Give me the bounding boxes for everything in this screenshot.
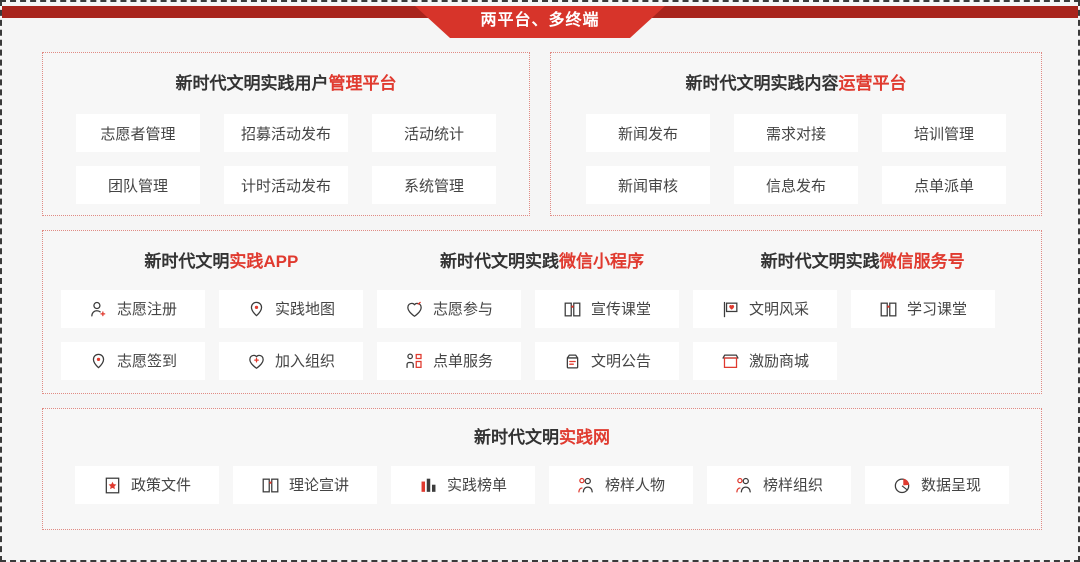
panel-web-portal-title: 新时代文明实践网 bbox=[43, 429, 1041, 446]
title-plain-text: 新时代文明实践用户 bbox=[176, 74, 329, 93]
people-group-icon bbox=[405, 352, 424, 371]
mobile-heading-row: 新时代文明实践APP 新时代文明实践微信小程序 新时代文明实践微信服务号 bbox=[43, 253, 1041, 270]
web-tile-grid: 政策文件 理论宣讲 bbox=[43, 466, 1041, 504]
shop-icon bbox=[721, 352, 740, 371]
tile-label: 榜样人物 bbox=[605, 478, 665, 493]
panel-ops-platform: 新时代文明实践内容运营平台 新闻发布 需求对接 培训管理 新闻审核 信息发布 点… bbox=[550, 52, 1042, 216]
tile-label: 实践地图 bbox=[275, 302, 335, 317]
tile-promotion-classroom[interactable]: 宣传课堂 bbox=[535, 290, 679, 328]
tile-timed-activity-publish[interactable]: 计时活动发布 bbox=[224, 166, 348, 204]
tile-info-publish[interactable]: 信息发布 bbox=[734, 166, 858, 204]
pie-chart-icon bbox=[893, 476, 912, 495]
tile-volunteer-checkin[interactable]: 志愿签到 bbox=[61, 342, 205, 380]
title-plain-text: 新时代文明实践 bbox=[440, 252, 559, 271]
title-highlight-text: 微信服务号 bbox=[880, 252, 965, 271]
tile-label: 榜样组织 bbox=[763, 478, 823, 493]
tile-order-dispatch[interactable]: 点单派单 bbox=[882, 166, 1006, 204]
title-plain-text: 新时代文明 bbox=[144, 252, 229, 271]
tile-policy-documents[interactable]: 政策文件 bbox=[75, 466, 219, 504]
title-highlight-text: 实践APP bbox=[229, 252, 298, 271]
open-book-icon bbox=[261, 476, 280, 495]
tile-volunteer-register[interactable]: 志愿注册 bbox=[61, 290, 205, 328]
tile-label: 实践榜单 bbox=[447, 478, 507, 493]
tile-label: 加入组织 bbox=[275, 354, 335, 369]
tile-study-classroom[interactable]: 学习课堂 bbox=[851, 290, 995, 328]
title-highlight-text: 微信小程序 bbox=[559, 252, 644, 271]
heading-miniprogram: 新时代文明实践微信小程序 bbox=[382, 253, 703, 270]
bar-chart-icon bbox=[419, 476, 438, 495]
title-plain-text: 新时代文明 bbox=[474, 428, 559, 447]
panel-ops-platform-title: 新时代文明实践内容运营平台 bbox=[551, 75, 1041, 92]
tile-training-management[interactable]: 培训管理 bbox=[882, 114, 1006, 152]
tile-label: 文明公告 bbox=[591, 354, 651, 369]
tile-civilization-notice[interactable]: 文明公告 bbox=[535, 342, 679, 380]
tile-label: 政策文件 bbox=[131, 478, 191, 493]
tile-label: 点单服务 bbox=[433, 354, 493, 369]
flag-heart-icon bbox=[721, 300, 740, 319]
user-add-icon bbox=[89, 300, 108, 319]
title-highlight-text: 实践网 bbox=[559, 428, 610, 447]
tile-label: 志愿参与 bbox=[433, 302, 493, 317]
grid-spacer bbox=[851, 342, 995, 380]
tile-practice-map[interactable]: 实践地图 bbox=[219, 290, 363, 328]
title-highlight-text: 运营平台 bbox=[839, 74, 907, 93]
mobile-column-5: 文明风采 激励商城 bbox=[693, 290, 837, 380]
panel-mobile-terminals: 新时代文明实践APP 新时代文明实践微信小程序 新时代文明实践微信服务号 bbox=[42, 230, 1042, 394]
mobile-column-6: 学习课堂 bbox=[851, 290, 995, 380]
location-pin-icon bbox=[89, 352, 108, 371]
two-people-icon bbox=[735, 476, 754, 495]
tile-team-management[interactable]: 团队管理 bbox=[76, 166, 200, 204]
tile-role-model-organization[interactable]: 榜样组织 bbox=[707, 466, 851, 504]
heart-plus-icon bbox=[247, 352, 266, 371]
panel-user-platform-title: 新时代文明实践用户管理平台 bbox=[43, 75, 529, 92]
tile-news-review[interactable]: 新闻审核 bbox=[586, 166, 710, 204]
ribbon-label: 两平台、多终端 bbox=[480, 13, 599, 31]
header-ribbon: 两平台、多终端 bbox=[415, 6, 665, 38]
mobile-column-2: 实践地图 加入组织 bbox=[219, 290, 363, 380]
tile-label: 志愿注册 bbox=[117, 302, 177, 317]
mobile-tile-grid: 志愿注册 志愿签到 bbox=[43, 290, 1041, 380]
heart-icon bbox=[405, 300, 424, 319]
tile-join-organization[interactable]: 加入组织 bbox=[219, 342, 363, 380]
tile-activity-statistics[interactable]: 活动统计 bbox=[372, 114, 496, 152]
open-book-icon bbox=[563, 300, 582, 319]
open-book-icon bbox=[879, 300, 898, 319]
tile-role-model-person[interactable]: 榜样人物 bbox=[549, 466, 693, 504]
tile-volunteer-management[interactable]: 志愿者管理 bbox=[76, 114, 200, 152]
tile-volunteer-participate[interactable]: 志愿参与 bbox=[377, 290, 521, 328]
tile-practice-ranking[interactable]: 实践榜单 bbox=[391, 466, 535, 504]
panel-user-platform: 新时代文明实践用户管理平台 志愿者管理 招募活动发布 活动统计 团队管理 计时活… bbox=[42, 52, 530, 216]
tile-civilization-showcase[interactable]: 文明风采 bbox=[693, 290, 837, 328]
title-highlight-text: 管理平台 bbox=[329, 74, 397, 93]
notice-board-icon bbox=[563, 352, 582, 371]
mobile-column-3: 志愿参与 点单服务 bbox=[377, 290, 521, 380]
tile-demand-matching[interactable]: 需求对接 bbox=[734, 114, 858, 152]
tile-label: 理论宣讲 bbox=[289, 478, 349, 493]
tile-order-service[interactable]: 点单服务 bbox=[377, 342, 521, 380]
tile-incentive-mall[interactable]: 激励商城 bbox=[693, 342, 837, 380]
tile-news-publish[interactable]: 新闻发布 bbox=[586, 114, 710, 152]
tile-row: 新闻发布 需求对接 培训管理 bbox=[551, 114, 1041, 152]
tile-row: 团队管理 计时活动发布 系统管理 bbox=[43, 166, 529, 204]
mobile-column-1: 志愿注册 志愿签到 bbox=[61, 290, 205, 380]
tile-label: 激励商城 bbox=[749, 354, 809, 369]
diagram-root: 两平台、多终端 新时代文明实践用户管理平台 志愿者管理 招募活动发布 活动统计 … bbox=[0, 0, 1080, 562]
title-plain-text: 新时代文明实践 bbox=[761, 252, 880, 271]
tile-label: 文明风采 bbox=[749, 302, 809, 317]
tile-row: 志愿者管理 招募活动发布 活动统计 bbox=[43, 114, 529, 152]
tile-label: 数据呈现 bbox=[921, 478, 981, 493]
tile-row: 新闻审核 信息发布 点单派单 bbox=[551, 166, 1041, 204]
tile-label: 志愿签到 bbox=[117, 354, 177, 369]
location-pin-icon bbox=[247, 300, 266, 319]
document-star-icon bbox=[103, 476, 122, 495]
heading-service-account: 新时代文明实践微信服务号 bbox=[702, 253, 1023, 270]
panel-web-portal: 新时代文明实践网 政策文件 bbox=[42, 408, 1042, 530]
tile-system-management[interactable]: 系统管理 bbox=[372, 166, 496, 204]
tile-theory-lecture[interactable]: 理论宣讲 bbox=[233, 466, 377, 504]
heading-app: 新时代文明实践APP bbox=[61, 253, 382, 270]
two-people-icon bbox=[577, 476, 596, 495]
tile-recruit-activity-publish[interactable]: 招募活动发布 bbox=[224, 114, 348, 152]
mobile-column-4: 宣传课堂 文明公告 bbox=[535, 290, 679, 380]
tile-data-visualization[interactable]: 数据呈现 bbox=[865, 466, 1009, 504]
tile-label: 学习课堂 bbox=[907, 302, 967, 317]
tile-label: 宣传课堂 bbox=[591, 302, 651, 317]
title-plain-text: 新时代文明实践内容 bbox=[686, 74, 839, 93]
